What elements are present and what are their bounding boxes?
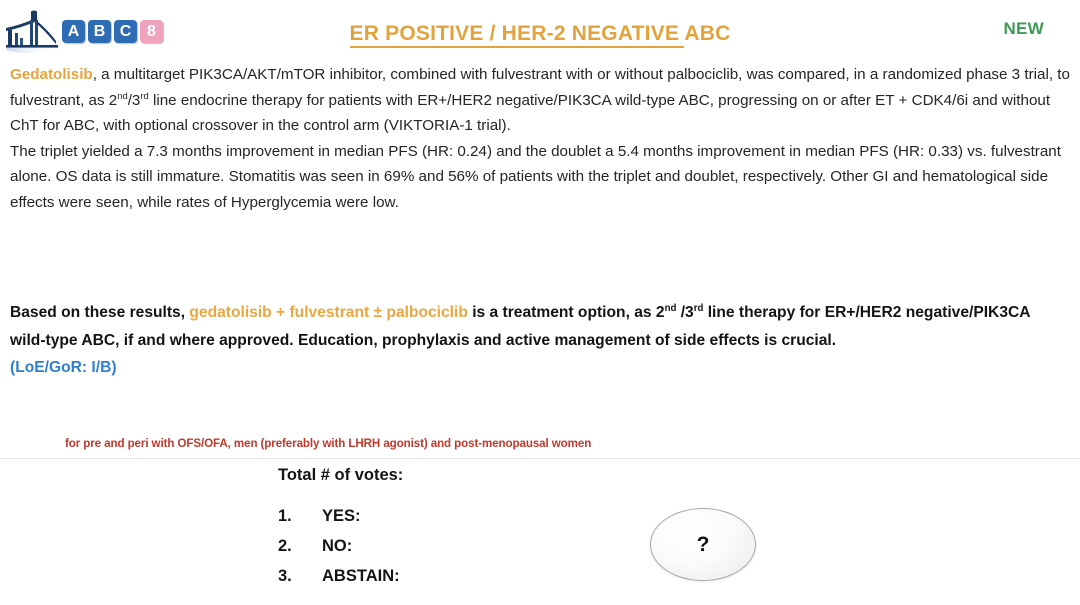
recommendation-mid-b: /3 (676, 304, 693, 321)
recommendation-text: Based on these results, gedatolisib + fu… (10, 299, 1060, 382)
section-divider (0, 458, 1080, 459)
vote-label-abstain: ABSTAIN: (322, 567, 400, 586)
vote-number-1: 1. (278, 507, 322, 526)
vote-option-no[interactable]: 2. NO: (278, 537, 403, 556)
sup-rd-1: rd (140, 89, 148, 100)
vote-number-2: 2. (278, 537, 322, 556)
question-mark-oval: ? (650, 508, 756, 581)
page-title-tail: ABC (684, 22, 730, 45)
vote-number-3: 3. (278, 567, 322, 586)
loe-gor-label: (LoE/GoR: I/B) (10, 354, 1060, 382)
page-title-underlined: ER POSITIVE / HER-2 NEGATIVE (350, 22, 685, 48)
vote-label-no: NO: (322, 537, 352, 556)
vote-option-abstain[interactable]: 3. ABSTAIN: (278, 567, 403, 586)
sup-nd-1: nd (117, 89, 127, 100)
vote-label-yes: YES: (322, 507, 361, 526)
summary-paragraph-1: Gedatolisib, a multitarget PIK3CA/AKT/mT… (10, 62, 1072, 139)
recommendation-lead: Based on these results, (10, 304, 189, 321)
new-badge: NEW (1003, 19, 1044, 39)
summary-paragraph-2: The triplet yielded a 7.3 months improve… (10, 139, 1072, 216)
recommendation-mid-a: is a treatment option, as 2 (468, 304, 665, 321)
summary-p1-b: /3 (128, 92, 141, 109)
voting-section: Total # of votes: 1. YES: 2. NO: 3. ABST… (278, 466, 403, 597)
footnote-text: for pre and peri with OFS/OFA, men (pref… (65, 437, 591, 450)
sup-nd-2: nd (665, 303, 677, 314)
recommendation-highlight: gedatolisib + fulvestrant ± palbociclib (189, 304, 467, 321)
drug-name-highlight: Gedatolisib (10, 66, 93, 83)
votes-title: Total # of votes: (278, 466, 403, 485)
summary-p1-c: line endocrine therapy for patients with… (10, 92, 1050, 135)
page-title: ER POSITIVE / HER-2 NEGATIVE ABC (0, 22, 1080, 46)
slide-header: A B C 8 ER POSITIVE / HER-2 NEGATIVE ABC… (0, 0, 1080, 62)
summary-text: Gedatolisib, a multitarget PIK3CA/AKT/mT… (10, 62, 1072, 215)
sup-rd-2: rd (694, 303, 704, 314)
vote-option-yes[interactable]: 1. YES: (278, 507, 403, 526)
